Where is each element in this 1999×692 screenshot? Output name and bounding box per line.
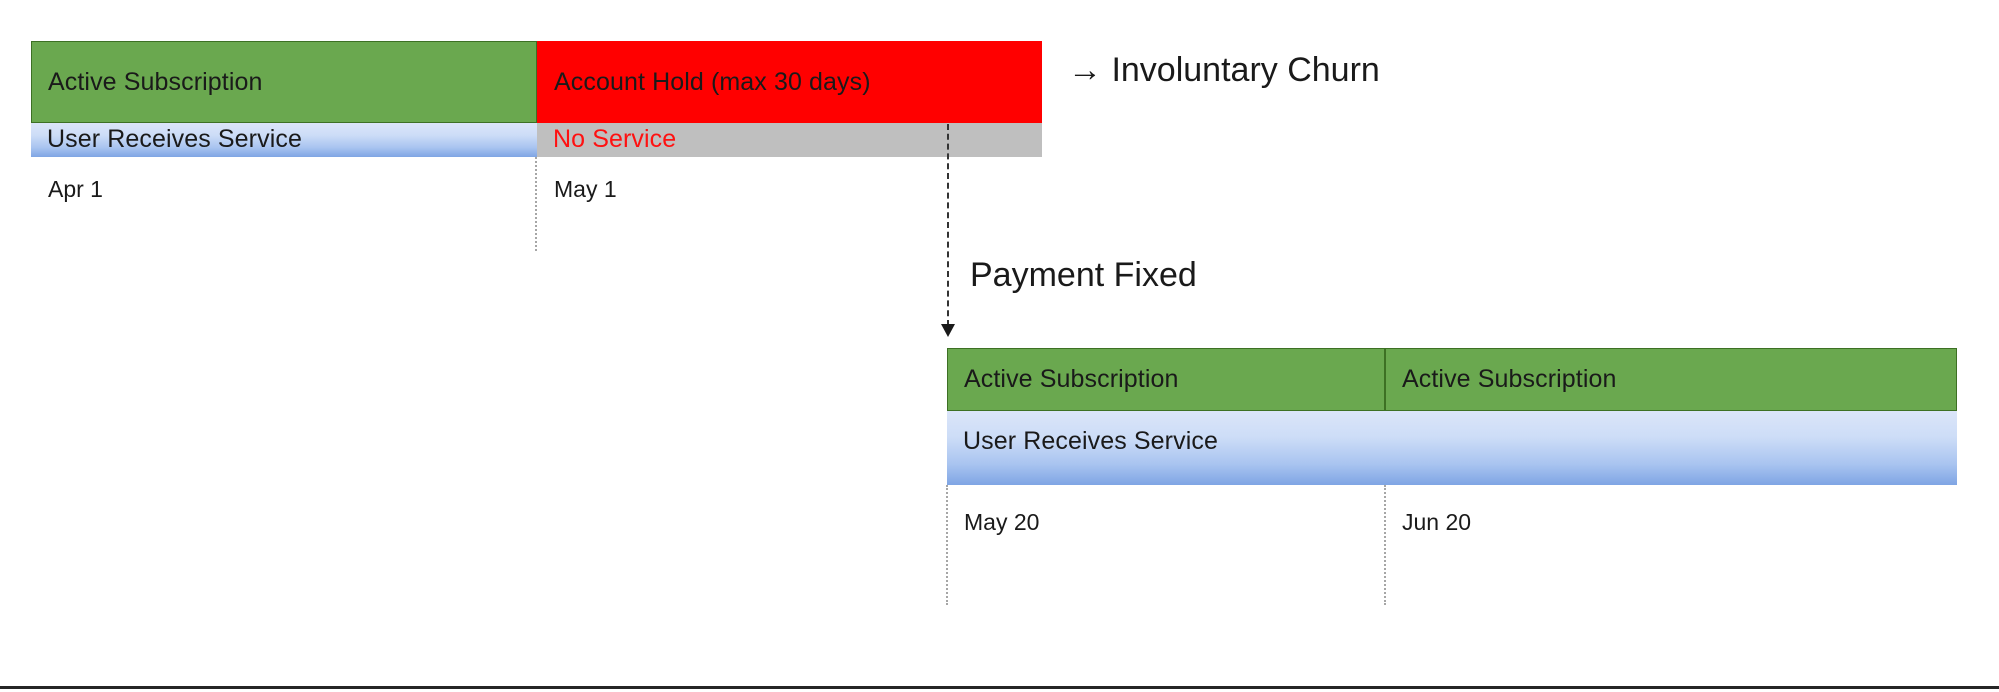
- top-tick-label-may-1: May 1: [554, 178, 617, 201]
- payment-fixed-connector-line: [947, 124, 949, 326]
- top-tick-line-may-1: [535, 157, 537, 251]
- bottom-tick-line-may-20: [946, 485, 948, 605]
- payment-fixed-label: Payment Fixed: [970, 258, 1197, 292]
- top-segment-2-service-label: No Service: [537, 127, 676, 152]
- bottom-tick-label-may-20: May 20: [964, 511, 1039, 534]
- payment-fixed-arrowhead-icon: [941, 324, 955, 337]
- top-segment-1-status-label: Active Subscription: [32, 70, 263, 95]
- bottom-tick-label-jun-20: Jun 20: [1402, 511, 1471, 534]
- top-segment-2-service-bar: No Service: [537, 123, 1042, 157]
- bottom-segment-1-status-label: Active Subscription: [948, 367, 1179, 392]
- bottom-service-label: User Receives Service: [947, 429, 1218, 454]
- top-segment-1-service-bar: User Receives Service: [31, 123, 537, 157]
- bottom-segment-2-status-label: Active Subscription: [1386, 367, 1617, 392]
- bottom-divider-rule: [0, 686, 1999, 689]
- bottom-service-bar: User Receives Service: [947, 411, 1957, 485]
- top-segment-1-status-bar: Active Subscription: [31, 41, 537, 123]
- diagram-canvas: Active Subscription User Receives Servic…: [0, 0, 1999, 692]
- top-segment-2-status-label: Account Hold (max 30 days): [538, 70, 871, 95]
- top-segment-2-status-bar: Account Hold (max 30 days): [537, 41, 1042, 123]
- top-tick-label-apr-1: Apr 1: [48, 178, 103, 201]
- bottom-segment-1-status-bar: Active Subscription: [947, 348, 1385, 411]
- involuntary-churn-annotation: → Involuntary Churn: [1068, 53, 1380, 87]
- bottom-segment-2-status-bar: Active Subscription: [1385, 348, 1957, 411]
- bottom-tick-line-jun-20: [1384, 485, 1386, 605]
- top-segment-1-service-label: User Receives Service: [31, 127, 302, 152]
